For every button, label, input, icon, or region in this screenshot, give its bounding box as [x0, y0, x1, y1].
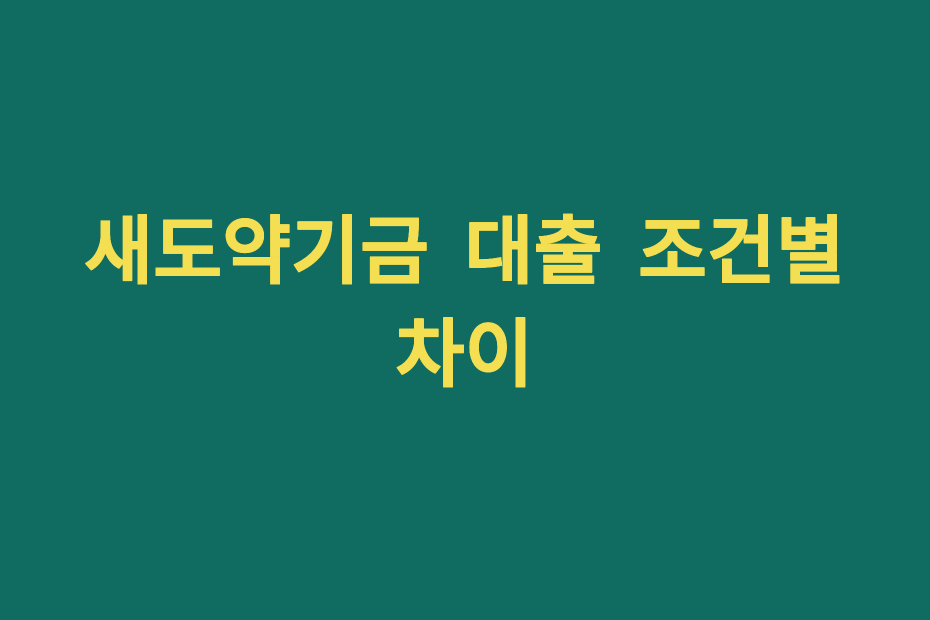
- thumbnail-canvas: 새도약기금 대출 조건별 차이: [0, 0, 930, 620]
- page-title-line-2: 차이: [25, 303, 905, 408]
- page-title: 새도약기금 대출 조건별 차이: [25, 200, 905, 408]
- page-title-line-1: 새도약기금 대출 조건별: [25, 200, 905, 305]
